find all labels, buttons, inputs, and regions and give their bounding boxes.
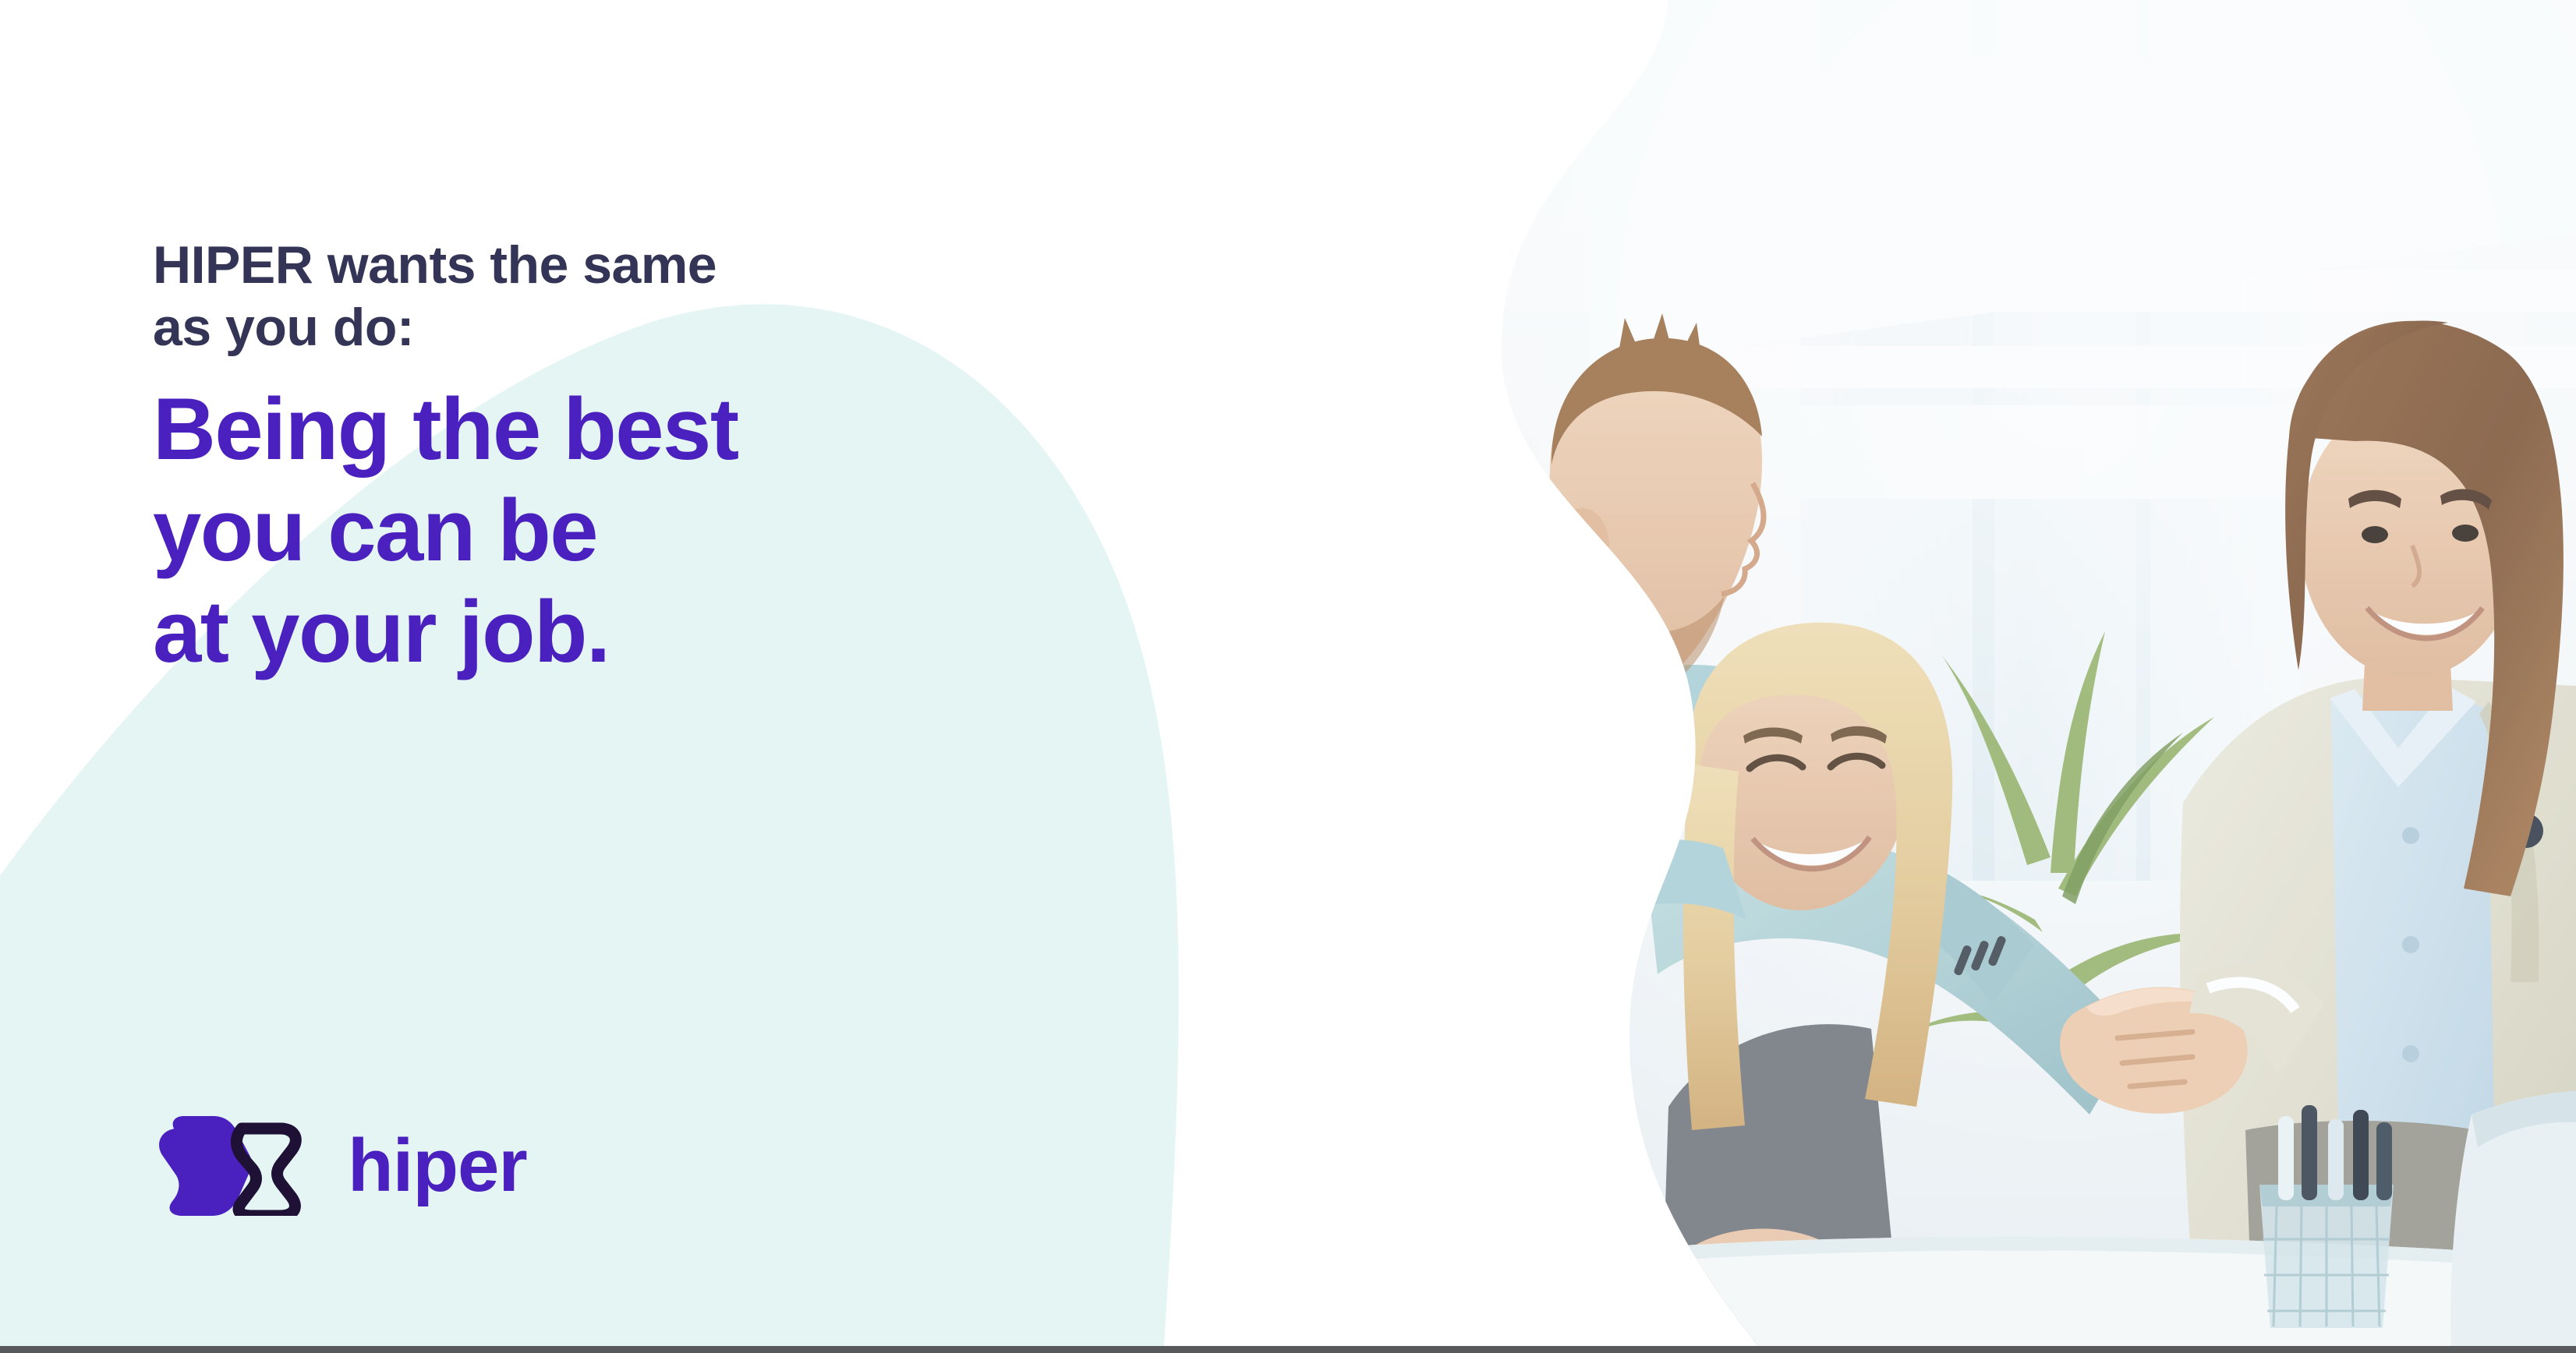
eyebrow-text: HIPER wants the same as you do: (153, 234, 1166, 359)
bottom-divider (0, 1346, 2576, 1353)
hiper-logo-mark-icon (153, 1116, 324, 1216)
hiper-wordmark: hiper (348, 1129, 527, 1203)
copy-block: HIPER wants the same as you do: Being th… (153, 234, 1166, 683)
page-title: Being the best you can be at your job. (153, 379, 1166, 683)
hiper-marketing-banner: HIPER wants the same as you do: Being th… (0, 0, 2576, 1353)
office-handshake-photo (1435, 0, 2576, 1353)
hiper-logo[interactable]: hiper (153, 1116, 527, 1216)
